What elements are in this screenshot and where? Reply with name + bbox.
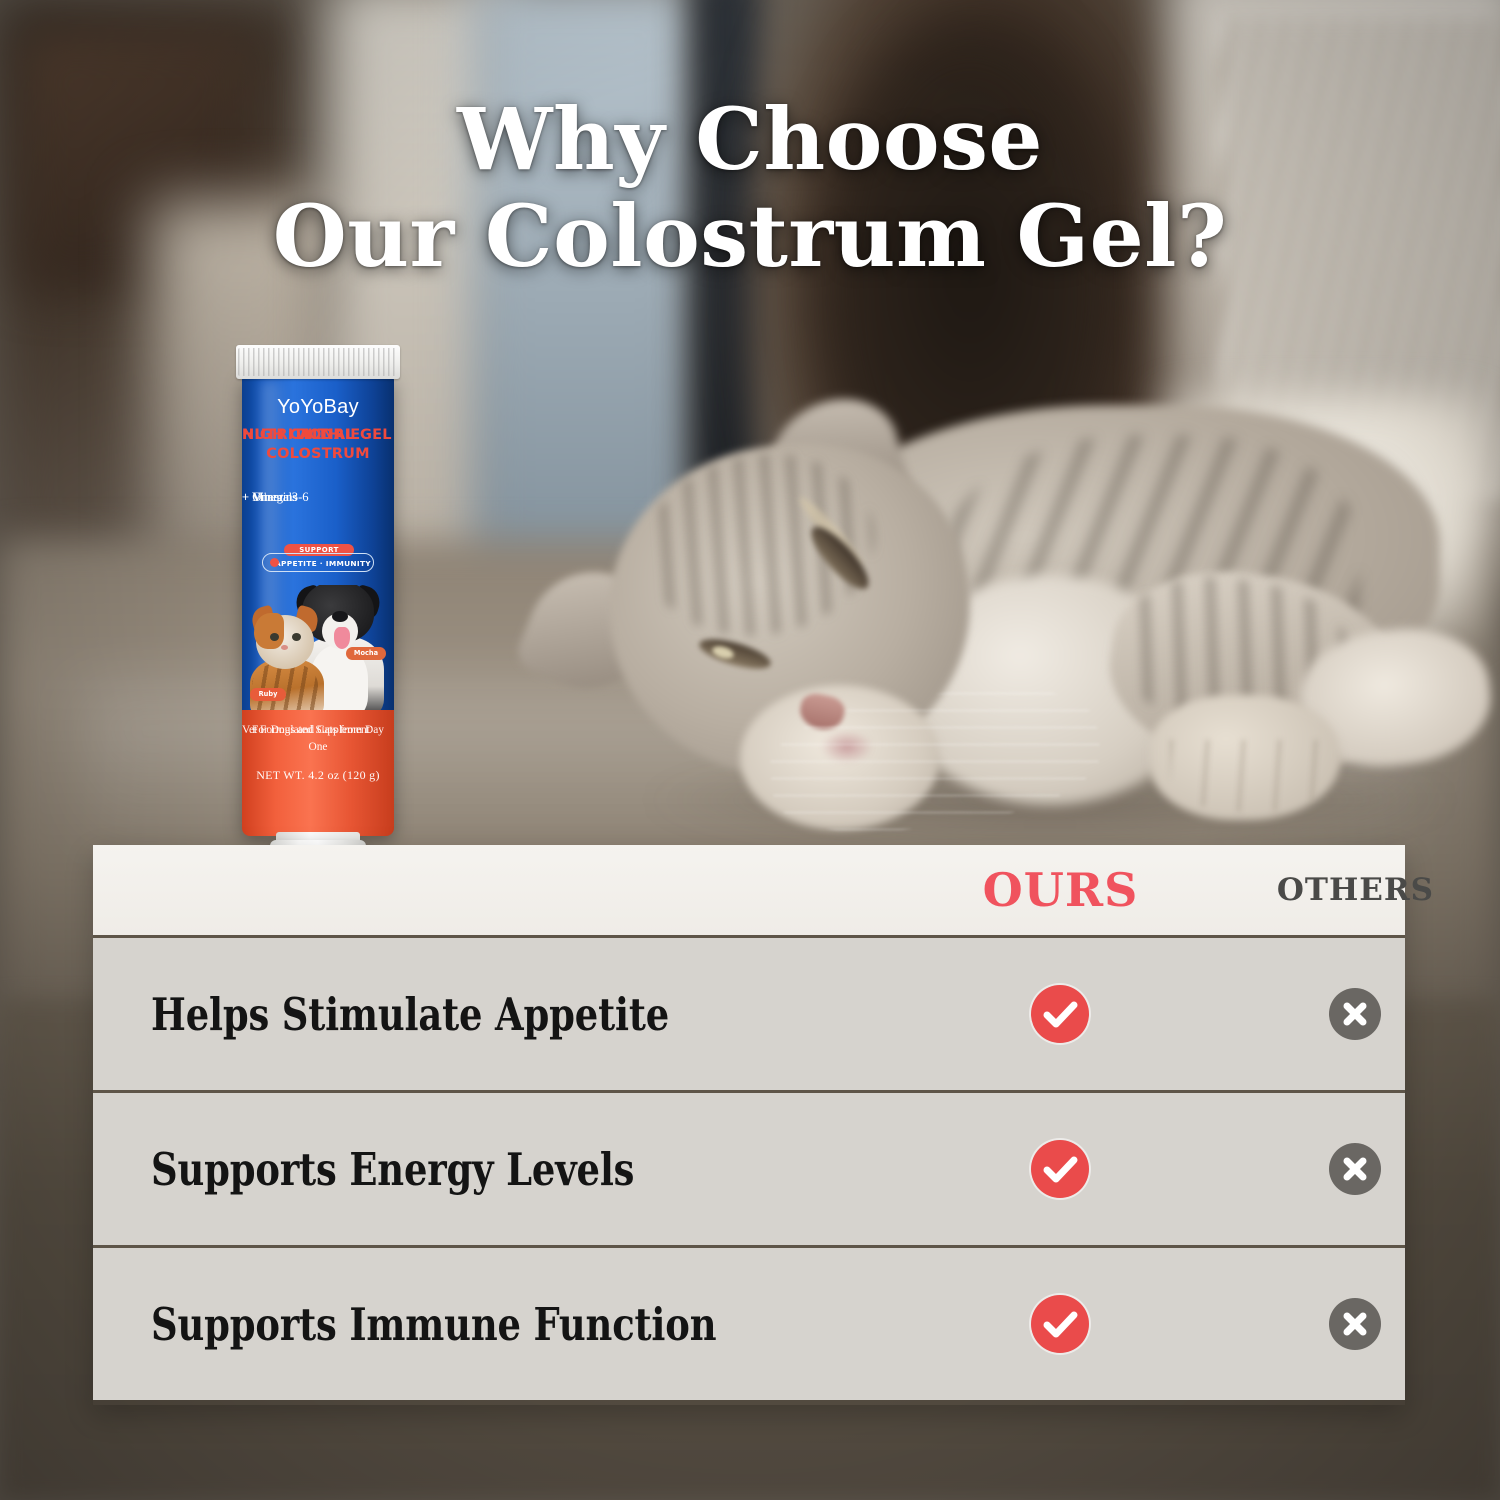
comparison-table-header: OURS OTHERS: [93, 845, 1405, 935]
column-header-others: OTHERS: [1093, 845, 1500, 935]
product-net-weight: NET WT. 4.2 oz (120 g): [242, 768, 394, 783]
check-icon: [1031, 1295, 1089, 1353]
dog-nose: [332, 611, 348, 622]
product-headline-line-3: WITH COLOSTRUM: [242, 426, 394, 464]
cat-toes: [1170, 740, 1330, 812]
cross-icon: [1329, 1143, 1381, 1195]
promo-graphic: Why Choose Our Colostrum Gel? YoYoBay HI…: [0, 0, 1500, 1500]
table-row: Supports Immune Function: [93, 1248, 1405, 1400]
dog-tongue: [334, 627, 350, 649]
table-row: Supports Energy Levels: [93, 1093, 1405, 1245]
page-title-line-2: Our Colostrum Gel?: [0, 189, 1500, 286]
tube-crimp-ribs: [238, 348, 398, 376]
feature-label: Supports Energy Levels: [151, 1143, 634, 1196]
product-footer-line-2: For Dogs and Cats from Day One: [242, 722, 394, 755]
tube-pet-photo: Ruby Mocha: [244, 585, 392, 715]
page-title: Why Choose Our Colostrum Gel?: [0, 92, 1500, 286]
cat-thumbnail-nose: [281, 645, 288, 650]
support-badge: SUPPORT APPETITE · IMMUNITY: [262, 544, 374, 580]
pet-name-tag-dog: Mocha: [346, 647, 386, 660]
product-tube: YoYoBay HIGH CALORIE NUTRITIONAL GEL WIT…: [228, 340, 408, 920]
check-icon: [1031, 1140, 1089, 1198]
support-badge-dot-icon: [270, 558, 279, 567]
cat-thumbnail-eye-left: [270, 633, 279, 641]
comparison-table: OURS OTHERS Helps Stimulate Appetite Sup…: [93, 845, 1405, 1405]
cat-thumbnail-patch: [254, 613, 284, 649]
cat-thumbnail-eye-right: [292, 633, 301, 641]
check-icon: [1031, 985, 1089, 1043]
feature-label: Supports Immune Function: [151, 1298, 716, 1351]
table-row: Helps Stimulate Appetite: [93, 938, 1405, 1090]
page-title-line-1: Why Choose: [457, 90, 1043, 190]
cat-photo: [470, 395, 1480, 845]
product-brand-name: YoYoBay: [242, 396, 394, 419]
feature-label: Helps Stimulate Appetite: [151, 988, 669, 1041]
cross-icon: [1329, 1298, 1381, 1350]
product-bullet-2: + Minerals: [242, 488, 297, 508]
pet-name-tag-cat: Ruby: [250, 688, 286, 701]
cross-icon: [1329, 988, 1381, 1040]
